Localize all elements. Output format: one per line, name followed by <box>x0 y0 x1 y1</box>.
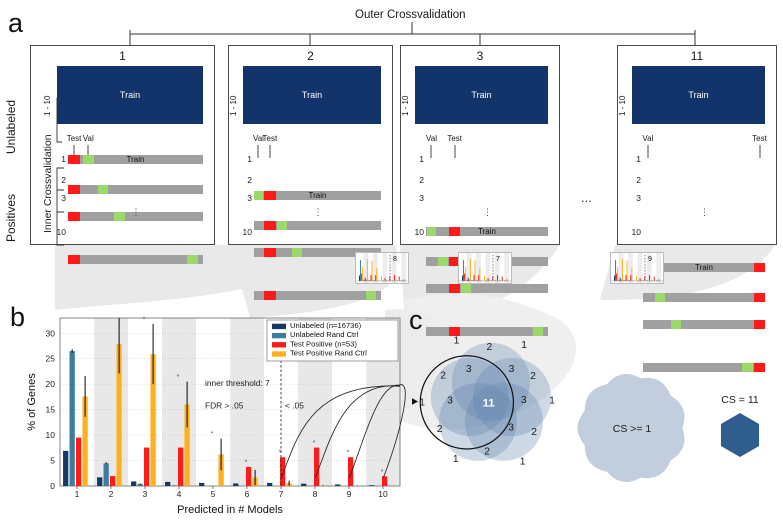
inner-fold-row-label: 2 <box>627 175 641 185</box>
val-label: Val <box>421 134 441 143</box>
val-segment <box>114 212 125 221</box>
bar <box>348 457 353 486</box>
bar <box>314 448 319 486</box>
y-tick-label: 0 <box>50 481 55 491</box>
val-segment <box>277 221 287 230</box>
y-tick-label: 20 <box>46 379 56 389</box>
test-segment <box>264 221 275 230</box>
inner-fold-row-label: 3 <box>627 193 641 203</box>
val-segment <box>292 248 302 257</box>
leader-line <box>257 145 259 158</box>
inner-fold-row-label: 10 <box>410 227 424 237</box>
venn-count-label: 2 <box>484 447 490 458</box>
bar <box>335 484 340 486</box>
legend-label: Unlabeled (n=16736) <box>290 321 362 330</box>
row-ellipsis: ⋮ <box>132 207 141 218</box>
bar <box>233 483 238 486</box>
bar <box>97 477 102 486</box>
venn-diagram-panel-c: 1212332131131232121CS >= 1CS = 11 <box>400 300 783 521</box>
y-axis-label: % of Genes <box>26 373 38 431</box>
axis-label-unlabeled: Unlabeled <box>4 64 18 154</box>
inner-fold-row-label: 1 <box>238 154 252 164</box>
row-ellipsis: ⋮ <box>700 207 709 218</box>
x-tick-label: 3 <box>143 489 148 499</box>
bar <box>369 485 374 486</box>
positives-train-label: Train <box>254 191 381 200</box>
inner-fold-row-label: 10 <box>238 227 252 237</box>
inner-fold-row-label: 1 <box>627 154 641 164</box>
inner-crossvalidation-label: Inner Crossvalidation <box>42 88 54 233</box>
row-ellipsis: ⋮ <box>314 207 323 218</box>
venn-count-label: 2 <box>531 427 537 438</box>
inner-threshold-annotation: inner threshold: 7 <box>205 378 270 388</box>
x-tick-label: 1 <box>75 489 80 499</box>
venn-count-label: 3 <box>521 395 527 406</box>
bar-chart-panel-b: 051015202530********inner threshold: 7FD… <box>26 310 406 520</box>
venn-count-label: 1 <box>549 396 555 407</box>
val-label: Val <box>638 134 658 143</box>
inner-fold-strip[interactable]: Train <box>254 191 381 200</box>
venn-count-label: 1 <box>454 336 460 347</box>
venn-count-label: 2 <box>440 371 446 382</box>
inner-fold-strip[interactable]: Train <box>426 227 548 236</box>
inner-fold-row-label: 3 <box>410 193 424 203</box>
mini-chart-threshold-number: 8 <box>393 256 397 263</box>
bar <box>301 484 306 486</box>
leader-line <box>647 145 649 158</box>
inner-fold-strip[interactable]: Train <box>68 155 203 164</box>
x-tick-label: 10 <box>378 489 388 499</box>
bar <box>199 483 204 486</box>
row-ellipsis: ⋮ <box>483 207 492 218</box>
legend-label: Test Positive (n=53) <box>290 339 357 348</box>
x-tick-label: 2 <box>109 489 114 499</box>
bar <box>246 467 251 486</box>
unlabeled-range-label: 1 - 10 <box>401 71 410 116</box>
val-segment <box>187 255 198 264</box>
positives-train-label: Train <box>426 227 548 236</box>
significance-star: * <box>347 450 350 457</box>
venn-count-label: 1 <box>419 397 425 408</box>
significance-star: * <box>143 317 146 324</box>
venn-count-label: 1 <box>520 456 526 467</box>
bar <box>267 483 272 486</box>
outer-fold-number: 3 <box>400 49 560 63</box>
mini-chart-threshold-number: 9 <box>648 256 652 263</box>
venn-count-label: 3 <box>447 396 453 407</box>
y-tick-label: 5 <box>50 456 55 466</box>
venn-count-label: 3 <box>509 364 515 375</box>
leader-line <box>759 145 761 158</box>
x-tick-label: 8 <box>313 489 318 499</box>
outer-fold-number: 11 <box>617 49 777 63</box>
venn-count-label: 2 <box>487 342 493 353</box>
unlabeled-range-label: 1 - 10 <box>229 71 238 116</box>
cs-ge-1-label: CS >= 1 <box>613 423 652 435</box>
legend-label: Unlabeled Rand Ctrl <box>290 330 359 339</box>
test-label: Test <box>445 134 465 143</box>
mini-chart-9[interactable]: 9 <box>610 252 664 284</box>
inner-fold-strip[interactable] <box>254 291 381 300</box>
val-segment <box>366 291 376 300</box>
bar <box>131 481 136 486</box>
fold-ellipsis: ... <box>581 190 592 205</box>
fdr-right-annotation: < .05 <box>285 401 304 411</box>
leader-line <box>454 145 456 158</box>
significance-star: * <box>245 459 248 466</box>
bar <box>76 438 81 486</box>
inner-fold-row-label: 2 <box>238 175 252 185</box>
significance-star: * <box>313 440 316 447</box>
significance-star: * <box>211 431 214 438</box>
unlabeled-train-block: Train <box>415 66 548 124</box>
unlabeled-range-label: 1 - 10 <box>618 71 627 116</box>
unlabeled-train-block: Train <box>632 66 765 124</box>
x-tick-label: 9 <box>347 489 352 499</box>
y-tick-label: 10 <box>46 430 56 440</box>
venn-count-label: 1 <box>521 340 527 351</box>
inner-fold-row-label: 1 <box>410 154 424 164</box>
x-tick-label: 4 <box>177 489 182 499</box>
bar <box>382 476 387 486</box>
x-tick-label: 5 <box>211 489 216 499</box>
x-tick-label: 7 <box>279 489 284 499</box>
unlabeled-train-block: Train <box>243 66 381 124</box>
y-tick-label: 30 <box>46 328 56 338</box>
bar <box>110 476 115 486</box>
inner-fold-row-label: 3 <box>238 193 252 203</box>
x-tick-label: 6 <box>245 489 250 499</box>
test-segment <box>68 255 80 264</box>
bar <box>70 351 75 486</box>
inner-cv-bracket <box>54 82 76 247</box>
fdr-left-annotation: FDR > .05 <box>205 401 244 411</box>
test-segment <box>449 284 460 293</box>
leader-line <box>269 145 271 158</box>
mini-chart-7[interactable]: 7 <box>458 252 512 284</box>
inner-fold-strip[interactable] <box>68 255 203 264</box>
inner-fold-row-label: 10 <box>627 227 641 237</box>
y-tick-label: 15 <box>46 405 56 415</box>
test-label: Test <box>750 134 770 143</box>
significance-star: * <box>381 469 384 476</box>
y-tick-label: 25 <box>46 354 56 364</box>
inner-fold-strip[interactable] <box>254 221 381 230</box>
significance-star: * <box>177 374 180 381</box>
venn-count-label: 2 <box>437 424 443 435</box>
outer-fold-number: 1 <box>30 49 215 63</box>
unlabeled-train-block: Train <box>57 66 203 124</box>
cs-eq-11-label: CS = 11 <box>721 394 759 406</box>
bar <box>144 448 149 486</box>
bar <box>178 448 183 486</box>
venn-count-label: 3 <box>466 364 472 375</box>
venn-count-label: 1 <box>453 454 459 465</box>
venn-count-label: 3 <box>508 423 514 434</box>
val-label: Val <box>78 134 98 143</box>
val-label: Val <box>248 134 268 143</box>
cs-eq-11-hexagon <box>721 413 759 457</box>
legend-label: Test Positive Rand Ctrl <box>290 349 367 358</box>
venn-count-label: 2 <box>530 371 536 382</box>
leader-line <box>430 145 432 158</box>
val-segment <box>98 185 109 194</box>
mini-chart-8[interactable]: 8 <box>355 252 409 284</box>
outer-fold-number: 2 <box>228 49 393 63</box>
test-segment <box>264 291 275 300</box>
val-segment <box>438 257 448 266</box>
bar <box>165 482 170 486</box>
inner-fold-row-label: 2 <box>410 175 424 185</box>
x-axis-label: Predicted in # Models <box>177 504 283 516</box>
val-segment <box>461 284 471 293</box>
venn-count-label: 11 <box>483 398 496 410</box>
inner-fold-strip[interactable] <box>68 185 203 194</box>
bar <box>63 451 68 486</box>
positives-train-label: Train <box>68 155 203 164</box>
bar <box>104 463 109 486</box>
test-segment <box>264 248 275 257</box>
inner-fold-strip[interactable] <box>426 284 548 293</box>
panel-b-letter: b <box>10 302 25 333</box>
mini-chart-threshold-number: 7 <box>496 256 500 263</box>
axis-label-positives: Positives <box>4 162 18 242</box>
